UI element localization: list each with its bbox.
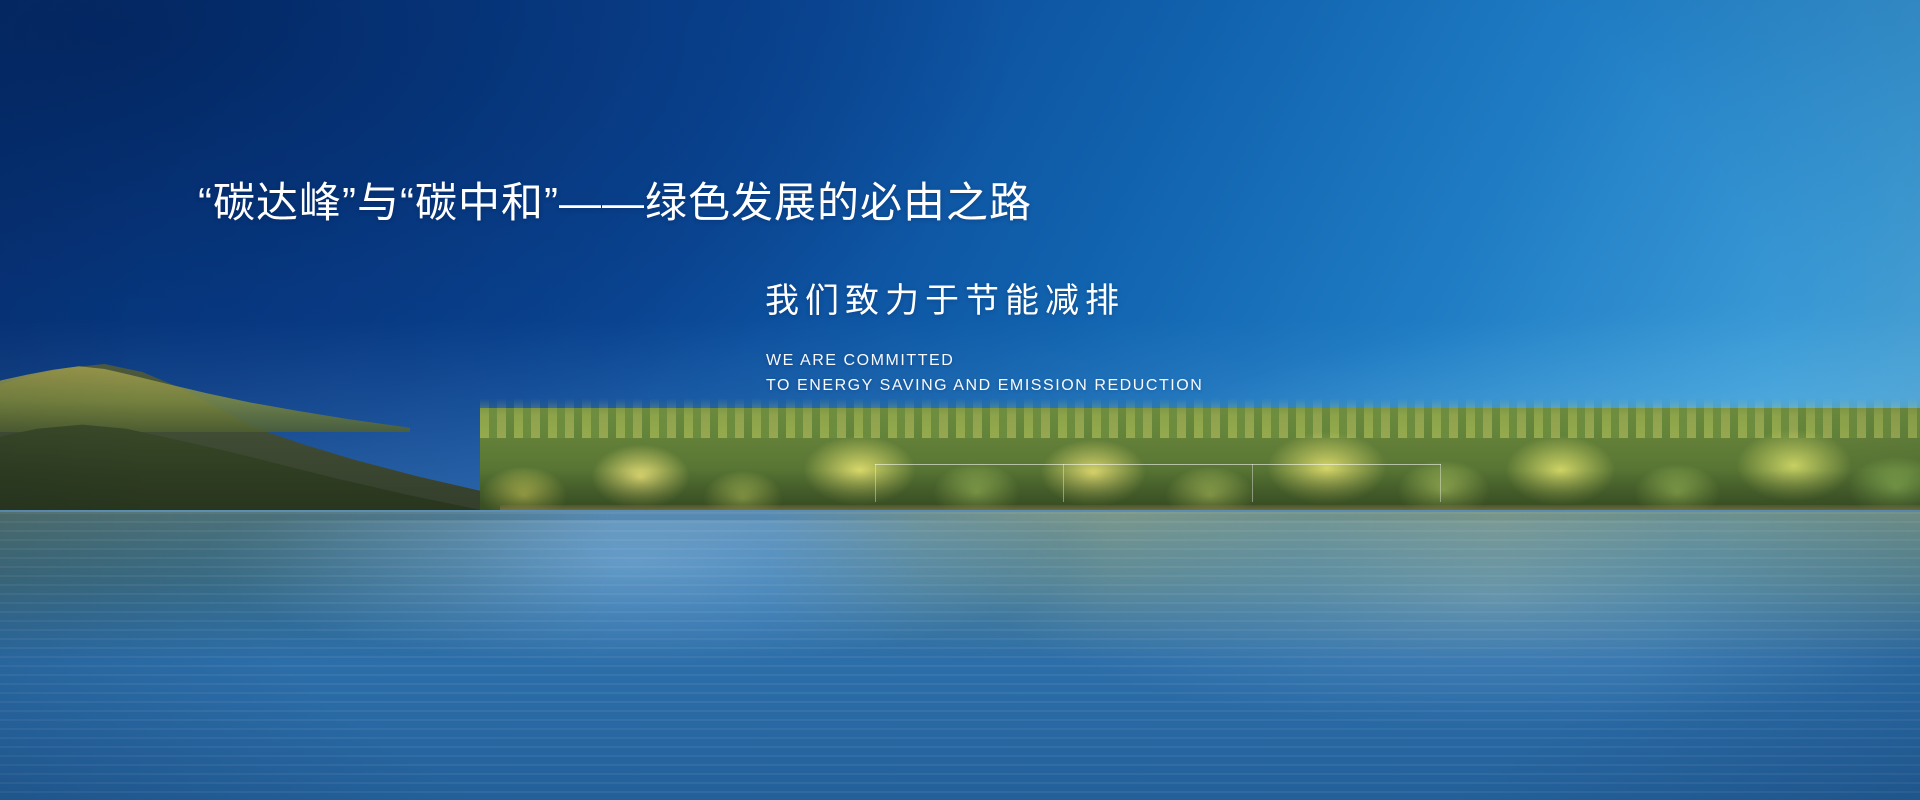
hero-banner: “碳达峰”与“碳中和”——绿色发展的必由之路 我们致力于节能减排 WE ARE … (0, 0, 1920, 800)
rule-tick-1 (875, 464, 876, 502)
rule-tick-4 (1440, 464, 1441, 502)
banner-subtitle: 我们致力于节能减排 (765, 281, 1125, 322)
rule-horizontal-line (875, 464, 1441, 465)
water-sun-glint (0, 520, 1920, 750)
english-tagline-line-2: TO ENERGY SAVING AND EMISSION REDUCTION (766, 373, 1203, 398)
rule-tick-2 (1063, 464, 1064, 502)
decorative-rule-graphic (875, 464, 1441, 502)
banner-headline: “碳达峰”与“碳中和”——绿色发展的必由之路 (198, 178, 1032, 228)
rule-tick-3 (1252, 464, 1253, 502)
english-tagline-line-1: WE ARE COMMITTED (766, 348, 1203, 373)
treeline-canopy-texture (480, 398, 1920, 438)
banner-english-tagline: WE ARE COMMITTED TO ENERGY SAVING AND EM… (766, 348, 1203, 398)
